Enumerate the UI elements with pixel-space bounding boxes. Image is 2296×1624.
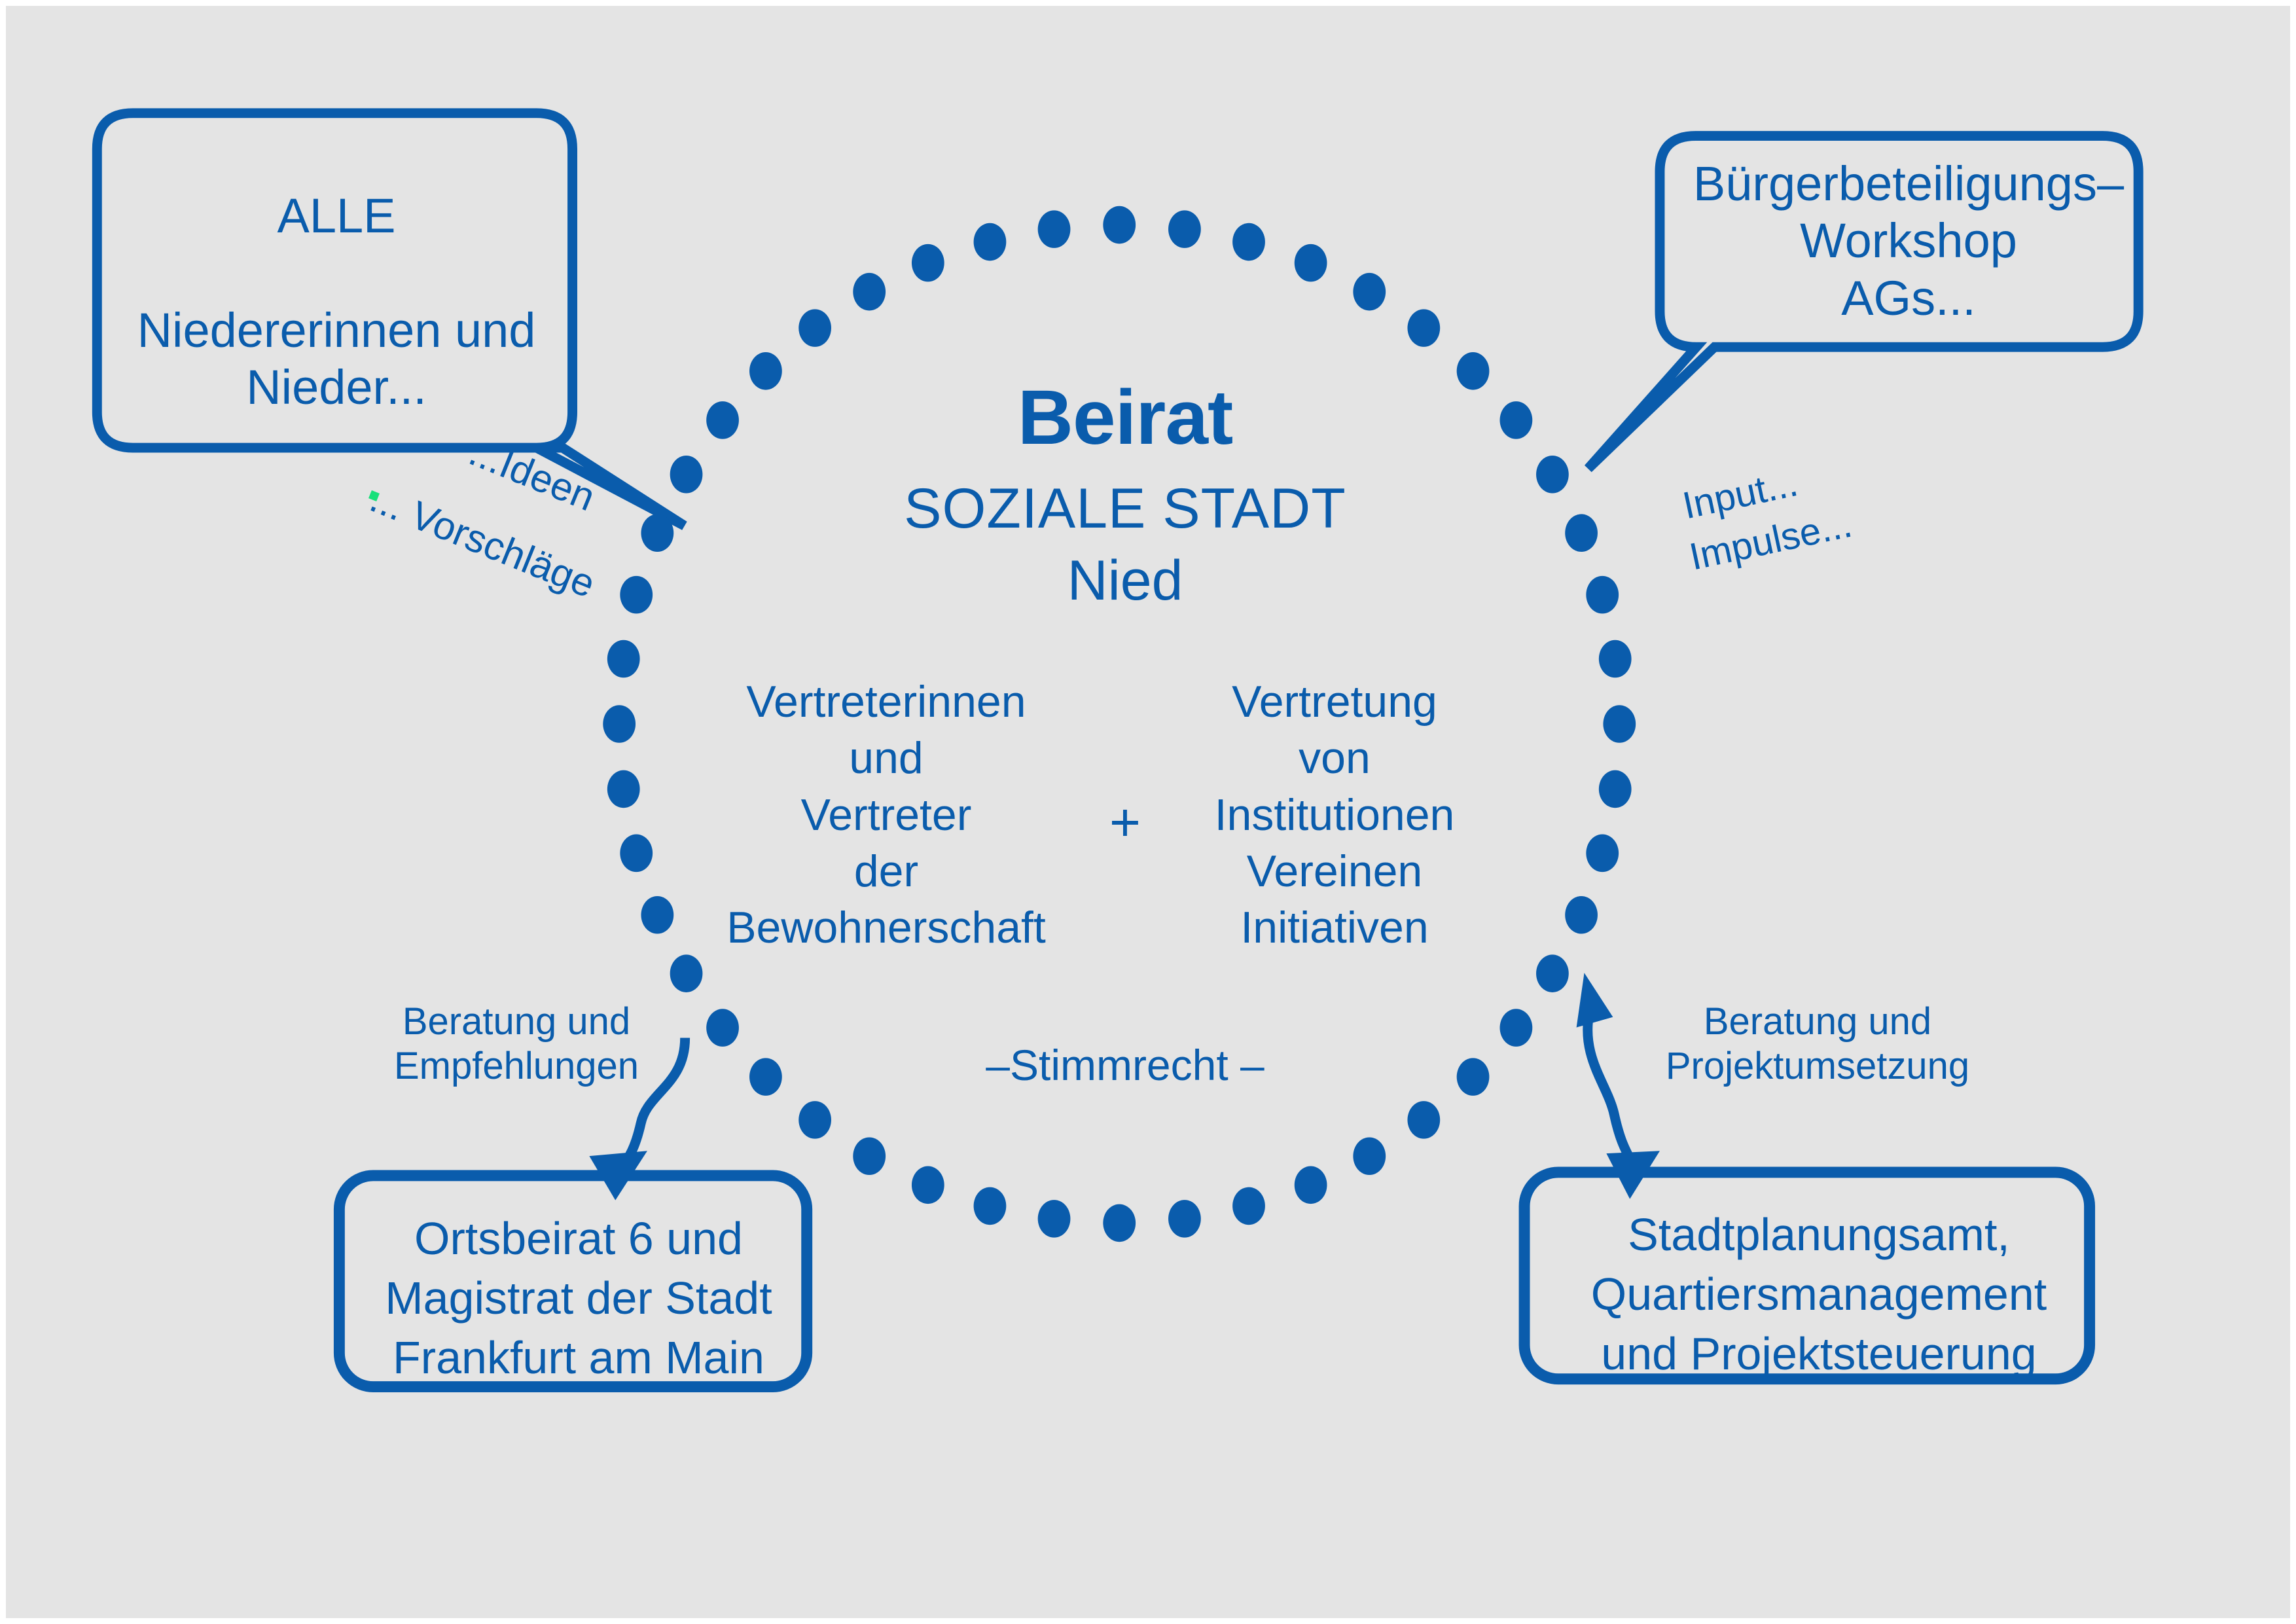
circle-dot: [1565, 514, 1598, 552]
circle-dot: [912, 244, 944, 282]
circle-dot: [974, 223, 1007, 261]
circle-dot: [1586, 835, 1619, 873]
annotation-beratung-projektumsetzung: Beratung und Projektumsetzung: [1647, 1000, 1988, 1089]
circle-dot: [1599, 770, 1632, 808]
circle-dot: [1295, 244, 1327, 282]
circle-dot: [706, 401, 739, 439]
circle-dot: [1232, 223, 1265, 261]
circle-dot: [1232, 1187, 1265, 1225]
bubble-left-line1: ALLE: [104, 187, 569, 244]
circle-dot: [1103, 206, 1136, 244]
circle-dot: [1038, 210, 1071, 248]
circle-dot: [1536, 456, 1569, 494]
circle-dot: [1500, 401, 1533, 439]
circle-dot: [1168, 1200, 1201, 1238]
circle-dot: [1103, 1204, 1136, 1242]
circle-dot: [1586, 576, 1619, 614]
circle-dot: [620, 576, 653, 614]
circle-dot: [1565, 896, 1598, 934]
bubble-left-label: ALLE Niedererinnen und Nieder...: [104, 130, 569, 416]
circle-dot: [1038, 1200, 1071, 1238]
circle-dot: [1536, 954, 1569, 992]
center-column-left: Vertreterinnen und Vertreter der Bewohne…: [716, 674, 1056, 956]
circle-dot: [749, 352, 782, 390]
circle-dot: [1407, 1101, 1440, 1139]
box-bottom-right-label: Stadtplanungsamt, Quartiersmanagement un…: [1544, 1205, 2094, 1384]
circle-dot: [1457, 1058, 1490, 1096]
circle-dot: [1500, 1009, 1533, 1047]
center-subtitle-line2: Nied: [791, 548, 1459, 614]
circle-dot: [607, 640, 640, 678]
plus-icon: +: [1079, 791, 1171, 855]
circle-dot: [749, 1058, 782, 1096]
circle-dot: [1168, 210, 1201, 248]
circle-dot: [1457, 352, 1490, 390]
circle-dot: [912, 1166, 944, 1204]
bubble-right-label: Bürgerbeteiligungs– Workshop AGs...: [1674, 155, 2144, 327]
circle-dot: [620, 835, 653, 873]
bubble-left-rest: Niedererinnen und Nieder...: [137, 303, 536, 414]
circle-dot: [1599, 640, 1632, 678]
box-bottom-left-label: Ortsbeirat 6 und Magistrat der Stadt Fra…: [353, 1209, 804, 1388]
circle-dot: [607, 770, 640, 808]
circle-dot: [1353, 273, 1386, 311]
circle-dot: [1603, 705, 1636, 743]
center-subtitle-line1: SOZIALE STADT: [791, 476, 1459, 542]
circle-dot: [1295, 1166, 1327, 1204]
circle-dot: [798, 309, 831, 347]
annotation-beratung-empfehlungen: Beratung und Empfehlungen: [372, 1000, 660, 1089]
circle-dot: [1353, 1137, 1386, 1175]
circle-dot: [641, 896, 673, 934]
circle-dot: [798, 1101, 831, 1139]
center-title: Beirat: [791, 372, 1459, 463]
circle-dot: [670, 456, 703, 494]
center-column-right: Vertretung von Institutionen Vereinen In…: [1191, 674, 1479, 956]
circle-dot: [670, 954, 703, 992]
diagram-canvas: ALLE Niedererinnen und Nieder... Bürgerb…: [0, 0, 2296, 1624]
circle-dot: [853, 273, 886, 311]
circle-dot: [603, 705, 636, 743]
circle-dot: [853, 1137, 886, 1175]
circle-dot: [974, 1187, 1007, 1225]
center-footer-stimmrecht: –Stimmrecht –: [929, 1040, 1321, 1091]
circle-dot: [1407, 309, 1440, 347]
circle-dot: [706, 1009, 739, 1047]
